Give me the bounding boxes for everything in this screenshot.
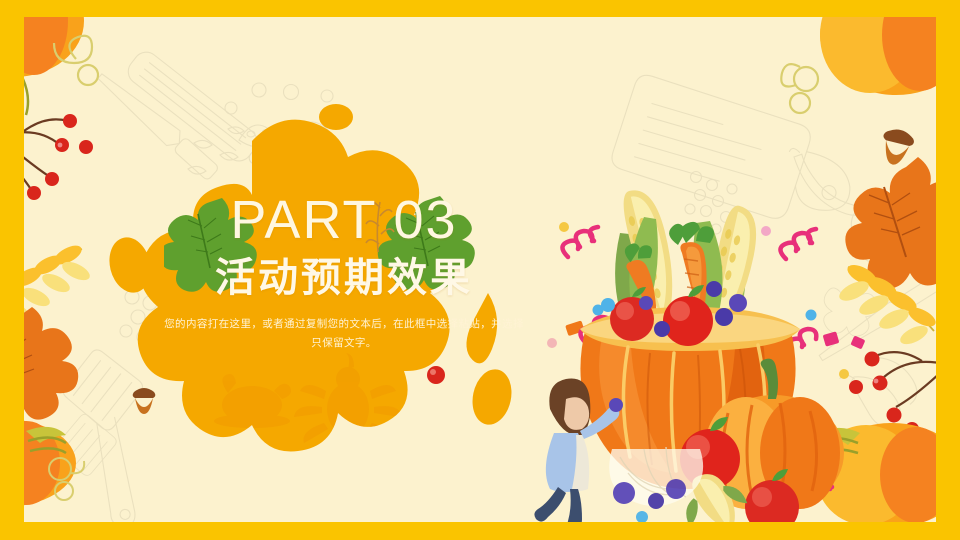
slide-text-block: PART 03 活动预期效果 您的内容打在这里，或者通过复制您的文本后，在此框中… xyxy=(154,192,534,354)
section-title: 活动预期效果 xyxy=(154,255,534,301)
blob-droplet-lower-right xyxy=(468,366,517,429)
slide-root: PART 03 活动预期效果 您的内容打在这里，或者通过复制您的文本后，在此框中… xyxy=(0,0,960,540)
slide-inner-panel: PART 03 活动预期效果 您的内容打在这里，或者通过复制您的文本后，在此框中… xyxy=(24,17,936,522)
blob-droplet-left xyxy=(104,233,156,297)
pumpkin-icon-topleft xyxy=(24,17,84,125)
swirl-icon-3 xyxy=(781,64,818,113)
part-label: PART 03 xyxy=(154,192,534,249)
body-placeholder-text: 您的内容打在这里，或者通过复制您的文本后，在此框中选择粘贴，并选择只保留文字。 xyxy=(154,315,534,354)
harvest-illustration xyxy=(524,177,924,522)
berry-icon-blob xyxy=(427,366,445,384)
oak-leaf-icon-left xyxy=(24,307,78,423)
berry-highlight xyxy=(430,369,436,375)
acorn-icon-right xyxy=(877,126,916,168)
pumpkin-icon-topright xyxy=(820,17,936,95)
blob-droplet-top xyxy=(319,104,353,130)
berry-branch-icon-left xyxy=(24,114,93,200)
